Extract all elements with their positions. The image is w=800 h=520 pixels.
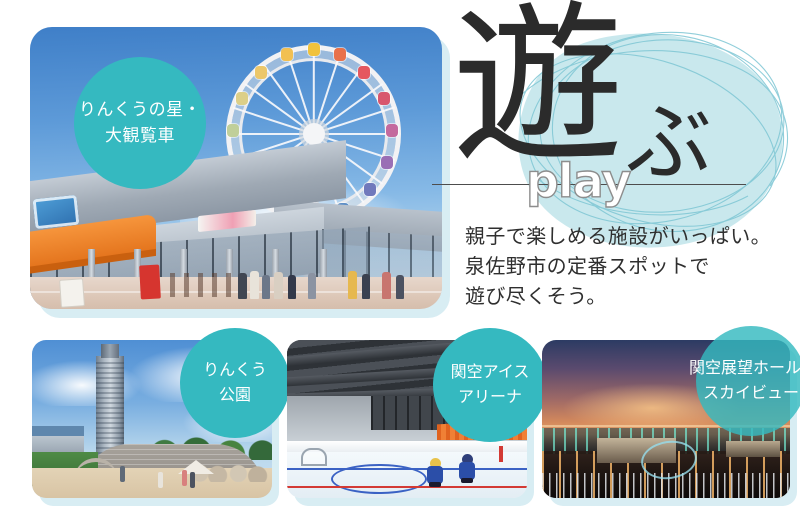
card-label-line1: 関空アイス [451,360,530,385]
card-label-line2: アリーナ [458,385,522,410]
card-label-line2: スカイビュー [703,381,799,406]
card-kanku-ice-arena[interactable]: 関空アイス アリーナ [287,340,527,498]
card-label-line1: りんくう [203,358,267,383]
card-rinku-park[interactable]: りんくう 公園 [32,340,272,498]
description-line-1: 親子で楽しめる施設がいっぱい。 [465,222,795,252]
hero-label-badge: りんくうの星・ 大観覧車 [74,57,206,189]
title-kanji: 遊 [452,0,624,172]
description-line-2: 泉佐野市の定番スポットで [465,252,795,282]
card-kanku-skyview[interactable]: 関空展望ホール スカイビュー [542,340,790,498]
card-label-line2: 公園 [219,383,251,408]
hero-label-line2: 大観覧車 [105,123,175,149]
description-text: 親子で楽しめる施設がいっぱい。 泉佐野市の定番スポットで 遊び尽くそう。 [465,222,795,312]
card-label-badge-ice-arena: 関空アイス アリーナ [433,328,547,442]
card-label-line1: 関空展望ホール [689,356,800,381]
title-romaji: play [526,154,630,208]
title-kana: ぶ [626,100,712,186]
description-line-3: 遊び尽くそう。 [465,282,795,312]
hero-card[interactable]: りんくうの星・ 大観覧車 [30,27,442,309]
card-label-badge-skyview: 関空展望ホール スカイビュー [696,326,800,436]
page-title: 遊 ぶ play [440,18,790,218]
hero-label-line1: りんくうの星・ [79,97,201,123]
card-label-badge-rinku-park: りんくう 公園 [180,328,290,438]
